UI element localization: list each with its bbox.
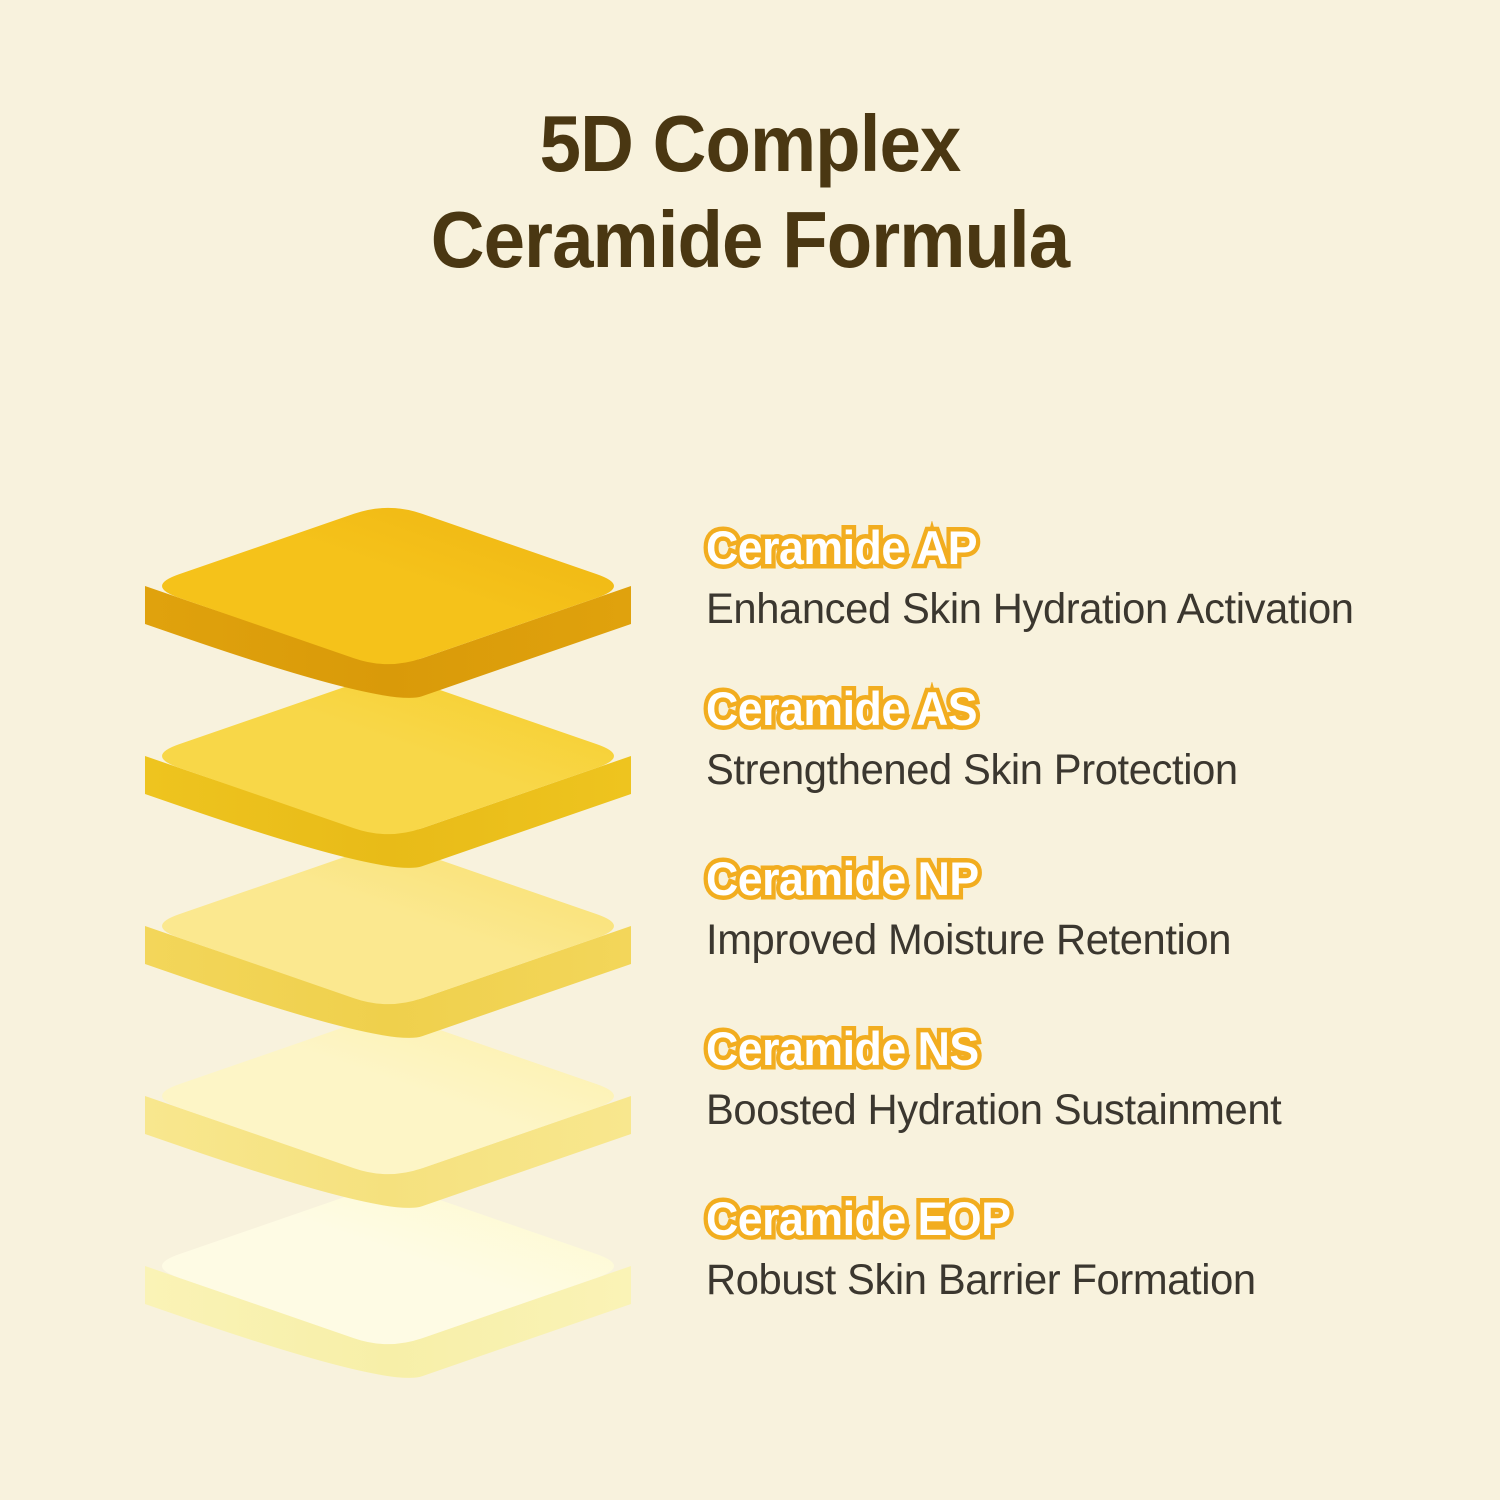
layer-description-ceramide-ap: Enhanced Skin Hydration Activation — [706, 582, 1463, 636]
layer-name-ceramide-eop: Ceramide EOP — [706, 1191, 1447, 1247]
list-item-ceramide-eop: Ceramide EOP Robust Skin Barrier Formati… — [706, 1191, 1486, 1307]
layer-name-ceramide-np: Ceramide NP — [706, 851, 1447, 907]
layer-name-ceramide-ns: Ceramide NS — [706, 1021, 1447, 1077]
ceramide-infographic-page: { "background_color": "#f8f2dd", "title"… — [0, 0, 1500, 1500]
ceramide-label-list: Ceramide AP Enhanced Skin Hydration Acti… — [706, 0, 1486, 1500]
layer-description-ceramide-eop: Robust Skin Barrier Formation — [706, 1253, 1463, 1307]
list-item-ceramide-ns: Ceramide NS Boosted Hydration Sustainmen… — [706, 1021, 1486, 1137]
layer-description-ceramide-as: Strengthened Skin Protection — [706, 743, 1463, 797]
layer-name-ceramide-as: Ceramide AS — [706, 681, 1447, 737]
layer-plate-ceramide-ap — [145, 480, 645, 730]
layer-description-ceramide-np: Improved Moisture Retention — [706, 913, 1463, 967]
layer-name-ceramide-ap: Ceramide AP — [706, 520, 1447, 576]
list-item-ceramide-as: Ceramide AS Strengthened Skin Protection — [706, 681, 1486, 797]
list-item-ceramide-np: Ceramide NP Improved Moisture Retention — [706, 851, 1486, 967]
ceramide-layer-stack-diagram — [145, 480, 645, 1330]
layer-description-ceramide-ns: Boosted Hydration Sustainment — [706, 1083, 1463, 1137]
list-item-ceramide-ap: Ceramide AP Enhanced Skin Hydration Acti… — [706, 520, 1486, 636]
